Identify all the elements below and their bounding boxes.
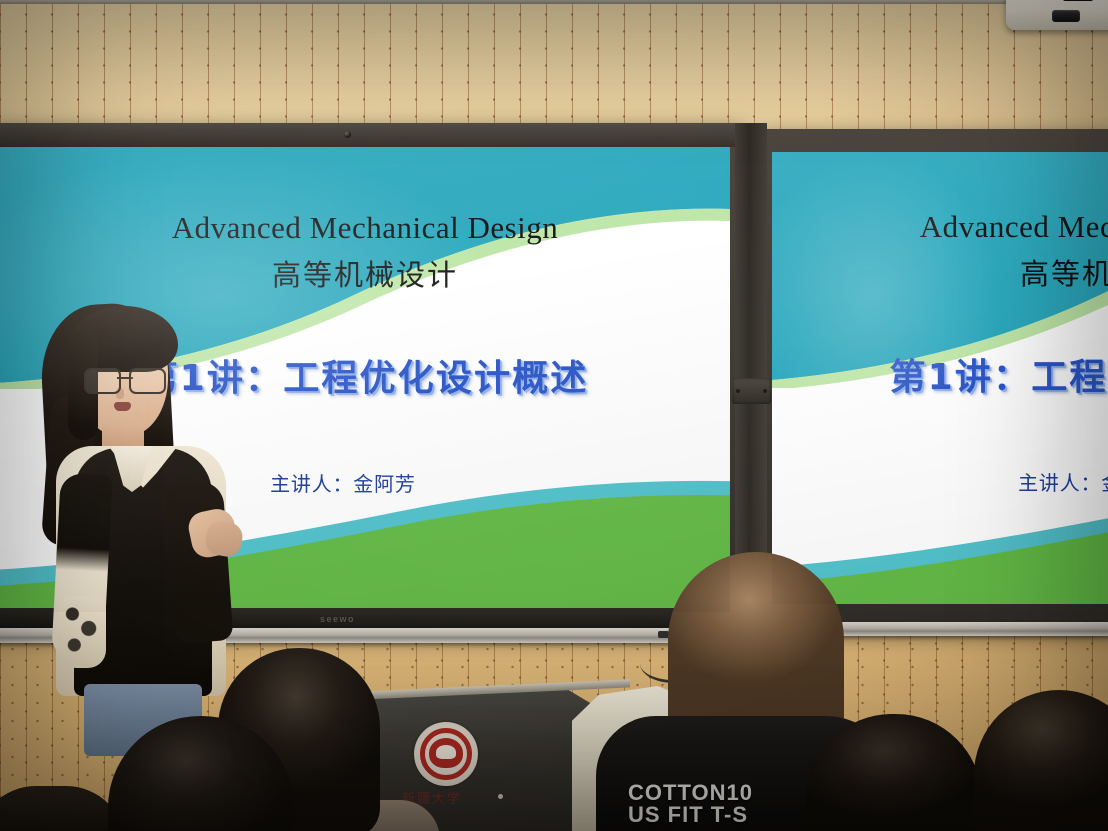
shirt-text-line1: COTTON10 — [628, 782, 753, 804]
smartboard-right-screen[interactable]: Advanced Mechanical Design 高等机械设计 第1讲：工程… — [772, 152, 1108, 604]
shirt-text-line2: US FIT T-S — [628, 804, 753, 826]
podium-indicator-dot — [498, 794, 503, 799]
projector-vent-icon — [1063, 0, 1093, 1]
camera-icon — [344, 131, 351, 138]
slide-title-chinese: 高等机械设计 — [0, 252, 730, 294]
smartboard-brand-logo: seewo — [320, 614, 355, 624]
glasses-lens-left — [84, 368, 121, 394]
crest-emblem — [429, 738, 463, 768]
presenter-lecturer — [30, 296, 244, 696]
slide-right: Advanced Mechanical Design 高等机械设计 第1讲：工程… — [772, 152, 1108, 604]
presenter-mouth — [114, 402, 131, 411]
university-crest-icon — [414, 722, 478, 786]
projector-lens-icon — [1052, 10, 1080, 22]
presenter-arm-right — [164, 480, 233, 644]
presenter-lace-sleeve — [58, 596, 106, 668]
slide-title-english: Advanced Mechanical Design — [772, 209, 1108, 245]
glasses-icon — [84, 368, 166, 390]
slide-lecture-title: 第1讲：工程优化设计概述 — [772, 348, 1108, 400]
glasses-lens-right — [129, 368, 166, 394]
slide-title-chinese: 高等机械设计 — [772, 251, 1108, 293]
center-post-clamp — [732, 378, 771, 404]
slide-right-viewport: Advanced Mechanical Design 高等机械设计 第1讲：工程… — [772, 152, 1108, 604]
ceiling-trim — [0, 0, 1108, 4]
slide-title-english: Advanced Mechanical Design — [0, 210, 730, 246]
slide-footer-wave — [772, 434, 1108, 604]
smartboard-top-bezel — [0, 123, 744, 147]
student-shirt-text: COTTON10 US FIT T-S — [628, 782, 753, 827]
classroom-scene: Advanced Mechanical Design 高等机械设计 第1讲：工程… — [0, 0, 1108, 831]
